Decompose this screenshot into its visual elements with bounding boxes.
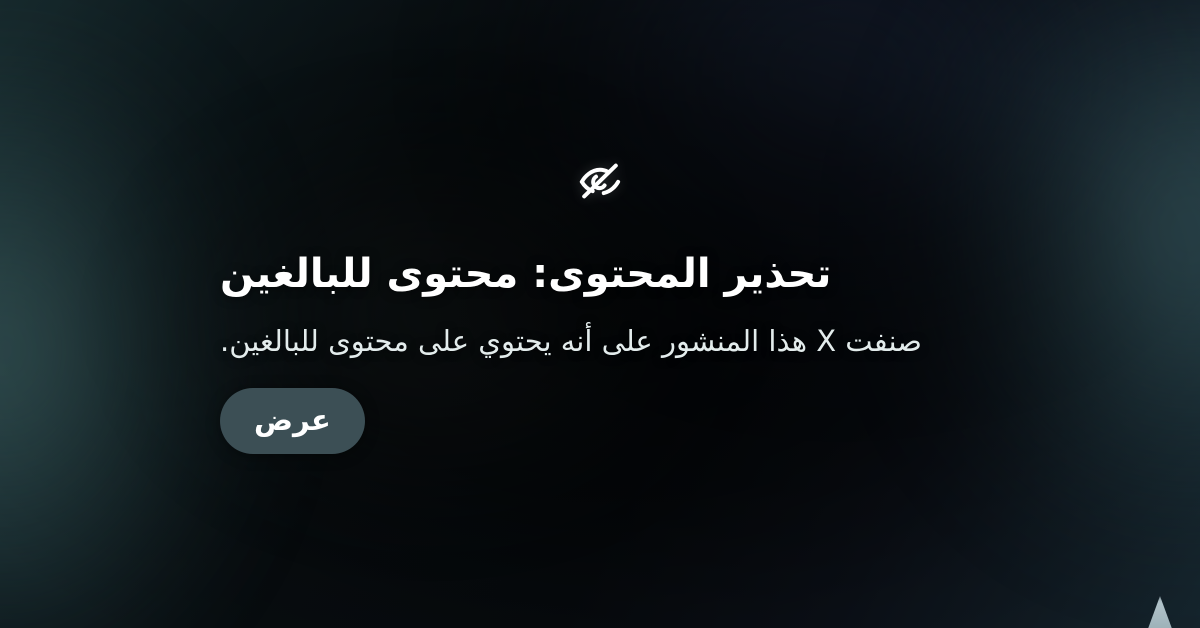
content-warning-title: تحذير المحتوى: محتوى للبالغين (220, 250, 831, 299)
icon-row (220, 156, 980, 206)
content-warning-description: صنفت X هذا المنشور على أنه يحتوي على محت… (220, 321, 922, 362)
content-warning-screen: تحذير المحتوى: محتوى للبالغين صنفت X هذا… (0, 0, 1200, 628)
view-button[interactable]: عرض (220, 388, 365, 454)
content-warning-card: تحذير المحتوى: محتوى للبالغين صنفت X هذا… (0, 0, 1200, 628)
content-warning-column: تحذير المحتوى: محتوى للبالغين صنفت X هذا… (220, 156, 980, 454)
eye-off-icon (575, 156, 625, 206)
